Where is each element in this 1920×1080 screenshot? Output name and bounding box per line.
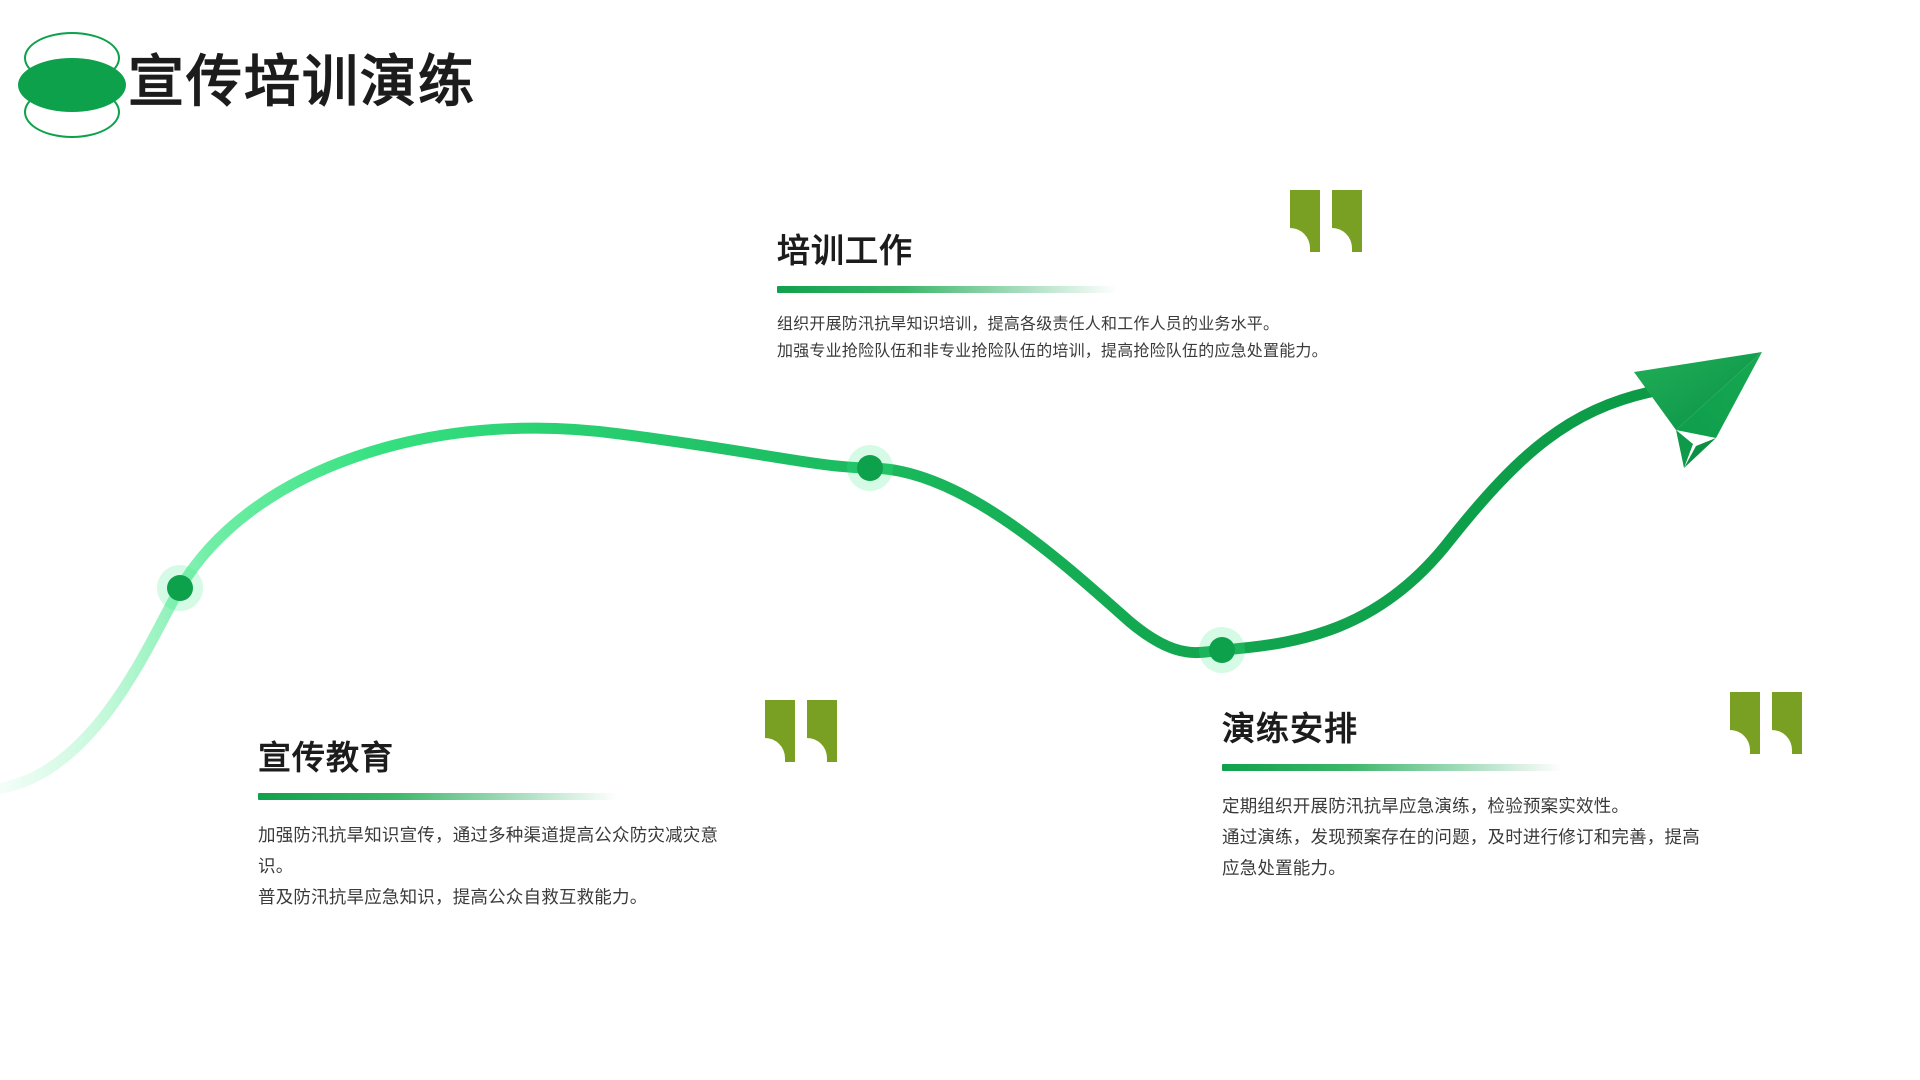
content-block-publicity: 宣传教育 加强防汛抗旱知识宣传，通过多种渠道提高公众防灾减灾意 识。 普及防汛抗…	[258, 735, 858, 913]
block-heading-training: 培训工作	[777, 228, 1357, 274]
heading-rule-training	[777, 286, 1117, 293]
content-block-drill: 演练安排 定期组织开展防汛抗旱应急演练，检验预案实效性。 通过演练，发现预案存在…	[1222, 706, 1822, 884]
block-body-training: 组织开展防汛抗旱知识培训，提高各级责任人和工作人员的业务水平。 加强专业抢险队伍…	[777, 311, 1357, 365]
heading-rule-publicity	[258, 793, 618, 800]
block-heading-publicity: 宣传教育	[258, 735, 858, 781]
node-publicity-halo	[157, 565, 203, 611]
body-line: 组织开展防汛抗旱知识培训，提高各级责任人和工作人员的业务水平。	[777, 311, 1357, 338]
body-line: 定期组织开展防汛抗旱应急演练，检验预案实效性。	[1222, 791, 1822, 822]
content-block-training: 培训工作 组织开展防汛抗旱知识培训，提高各级责任人和工作人员的业务水平。 加强专…	[777, 228, 1357, 365]
logo-core-ellipse	[18, 58, 126, 112]
body-line: 应急处置能力。	[1222, 853, 1822, 884]
body-line: 普及防汛抗旱应急知识，提高公众自救互救能力。	[258, 882, 858, 913]
slide-canvas: 宣传培训演练	[0, 0, 1920, 1080]
block-body-publicity: 加强防汛抗旱知识宣传，通过多种渠道提高公众防灾减灾意 识。 普及防汛抗旱应急知识…	[258, 820, 858, 913]
body-line: 识。	[258, 851, 858, 882]
page-title: 宣传培训演练	[128, 46, 476, 118]
body-line: 加强专业抢险队伍和非专业抢险队伍的培训，提高抢险队伍的应急处置能力。	[777, 338, 1357, 365]
double-ellipse-logo-icon	[18, 30, 126, 138]
node-publicity	[167, 575, 193, 601]
slide-header: 宣传培训演练	[0, 0, 1920, 180]
node-drill	[1209, 637, 1235, 663]
node-training-halo	[847, 445, 893, 491]
block-body-drill: 定期组织开展防汛抗旱应急演练，检验预案实效性。 通过演练，发现预案存在的问题，及…	[1222, 791, 1822, 884]
block-heading-drill: 演练安排	[1222, 706, 1822, 752]
heading-rule-drill	[1222, 764, 1562, 771]
paper-plane-icon	[1634, 352, 1762, 468]
body-line: 加强防汛抗旱知识宣传，通过多种渠道提高公众防灾减灾意	[258, 820, 858, 851]
body-line: 通过演练，发现预案存在的问题，及时进行修订和完善，提高	[1222, 822, 1822, 853]
node-drill-halo	[1199, 627, 1245, 673]
node-training	[857, 455, 883, 481]
